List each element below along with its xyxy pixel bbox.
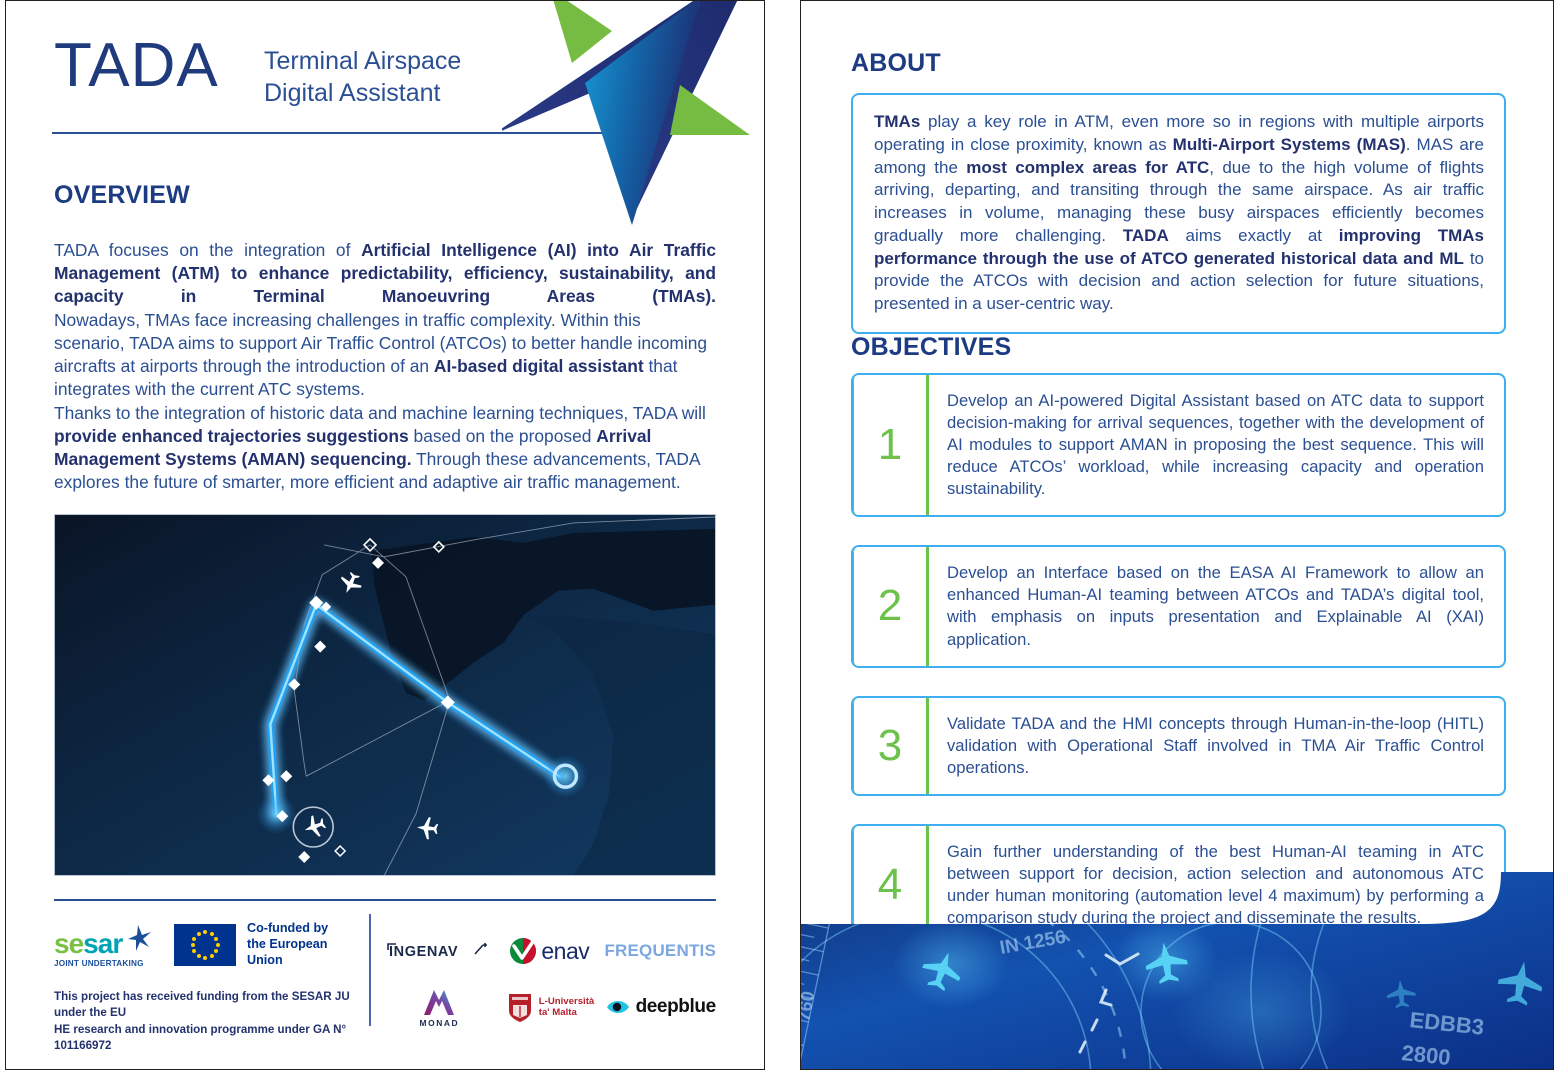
- trajectory-map-image: [54, 514, 716, 876]
- page-right: ABOUT TMAs play a key role in ATM, even …: [800, 0, 1554, 1070]
- deepblue-logo-text: deepblue: [636, 996, 716, 1018]
- brand-tagline-line2: Digital Assistant: [264, 77, 461, 109]
- funding-note-line1: This project has received funding from t…: [54, 989, 354, 1022]
- two-page-factsheet: TADA Terminal Airspace Digital Assistant: [0, 0, 1554, 1070]
- partner-row-1: INGENAV enav: [384, 929, 716, 973]
- about-title: ABOUT: [851, 49, 941, 78]
- about-text: TMAs play a key role in ATM, even more s…: [874, 112, 1484, 313]
- sesar-logo-text: sesar: [54, 928, 123, 959]
- objective-item-1: 1 Develop an AI-powered Digital Assistan…: [851, 373, 1506, 517]
- overview-paragraph-3: Thanks to the integration of historic da…: [54, 402, 716, 495]
- brand-tagline-line1: Terminal Airspace: [264, 45, 461, 77]
- eu-cofunding-logo: Co-funded by the European Union: [174, 924, 356, 966]
- monad-logo-text: MONAD: [420, 1018, 460, 1028]
- objective-number-1: 1: [878, 423, 902, 467]
- radar-banner-image: IN 1256 EDBB3 2800 760: [801, 872, 1554, 1069]
- partner-row-2: MONAD L-Università ta' Malta: [384, 985, 716, 1029]
- partner-logo-frequentis: FREQUENTIS: [604, 929, 716, 973]
- radar-banner-clipped: IN 1256 EDBB3 2800 760: [801, 872, 1554, 1069]
- map-canvas: [55, 515, 715, 876]
- enav-logo-text: enav: [541, 938, 589, 965]
- frequentis-logo-text: FREQUENTIS: [604, 941, 716, 961]
- enav-mark-icon: [509, 937, 539, 965]
- footer-divider: [54, 899, 716, 901]
- objective-item-2: 2 Develop an Interface based on the EASA…: [851, 545, 1506, 667]
- funding-note-line2: HE research and innovation programme und…: [54, 1022, 354, 1055]
- svg-text:INGENAV: INGENAV: [389, 944, 458, 960]
- partner-logo-enav: enav: [494, 929, 604, 973]
- radar-label-2: 2800: [1400, 1040, 1451, 1069]
- radar-banner-canvas: IN 1256 EDBB3 2800 760: [801, 872, 1554, 1069]
- page-title: TADA: [54, 35, 219, 97]
- objectives-title: OBJECTIVES: [851, 333, 1011, 362]
- footer-vertical-divider: [369, 914, 371, 1026]
- svg-text:JOINT UNDERTAKING: JOINT UNDERTAKING: [54, 959, 144, 968]
- objective-item-3: 3 Validate TADA and the HMI concepts thr…: [851, 696, 1506, 796]
- origin-glow: [256, 794, 296, 834]
- partner-logos: INGENAV enav: [384, 919, 716, 1027]
- partner-logo-deepblue: deepblue: [605, 985, 716, 1029]
- overview-body: TADA focuses on the integration of Artif…: [54, 239, 716, 495]
- funding-note: This project has received funding from t…: [54, 989, 354, 1055]
- eu-cofunding-text: Co-funded by the European Union: [247, 921, 356, 968]
- brand-tagline: Terminal Airspace Digital Assistant: [264, 45, 461, 109]
- eu-text-line1: Co-funded by: [247, 921, 356, 937]
- malta-logo-text: L-Università ta' Malta: [539, 996, 594, 1019]
- objective-text-1: Develop an AI-powered Digital Assistant …: [929, 375, 1504, 515]
- tada-star-logo: [502, 0, 765, 231]
- overview-paragraph-1: TADA focuses on the integration of Artif…: [54, 239, 716, 309]
- eu-flag-icon: [174, 924, 236, 966]
- objective-number-2: 2: [878, 584, 902, 628]
- page-left: TADA Terminal Airspace Digital Assistant: [5, 0, 765, 1070]
- objective-number-cell-2: 2: [851, 545, 929, 667]
- partner-logo-malta: L-Università ta' Malta: [495, 985, 606, 1029]
- objective-number-cell-1: 1: [851, 373, 929, 517]
- malta-line1: L-Università: [539, 996, 594, 1007]
- sesar-logo: sesar JOINT UNDERTAKING: [54, 923, 158, 971]
- university-of-malta-crest-icon: [506, 991, 534, 1023]
- objective-text-2: Develop an Interface based on the EASA A…: [929, 547, 1504, 665]
- monad-mark-icon: [418, 987, 460, 1017]
- deepblue-eye-icon: [606, 995, 630, 1019]
- partner-logo-monad: MONAD: [384, 985, 495, 1029]
- objective-text-3: Validate TADA and the HMI concepts throu…: [929, 698, 1504, 794]
- partner-logo-ingenav: INGENAV: [384, 929, 494, 973]
- overview-paragraph-2: Nowadays, TMAs face increasing challenge…: [54, 309, 716, 402]
- destination-glow: [544, 754, 588, 798]
- eu-text-line2: the European Union: [247, 937, 356, 968]
- about-box: TMAs play a key role in ATM, even more s…: [851, 93, 1506, 334]
- objective-number-3: 3: [878, 724, 902, 768]
- brand-header: TADA Terminal Airspace Digital Assistant: [6, 1, 764, 151]
- malta-line2: ta' Malta: [539, 1007, 577, 1018]
- overview-title: OVERVIEW: [54, 181, 190, 210]
- objective-number-cell-3: 3: [851, 696, 929, 796]
